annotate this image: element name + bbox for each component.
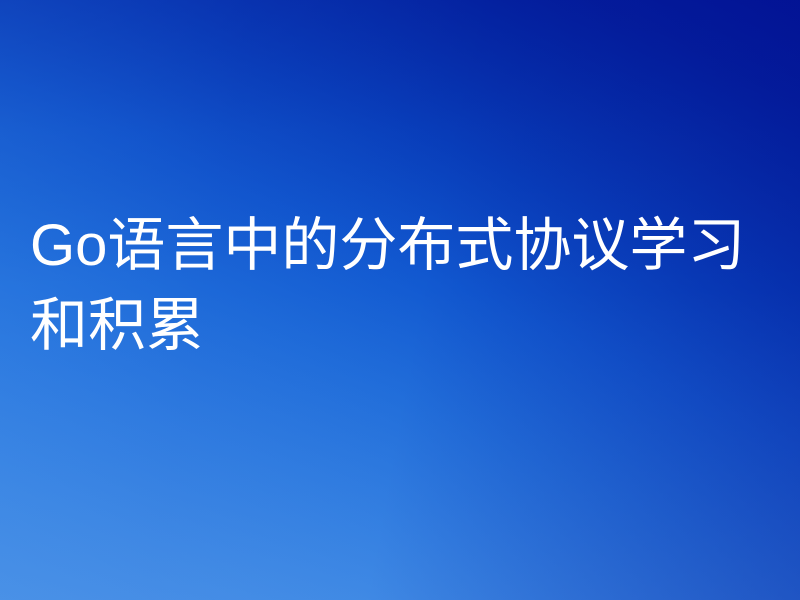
banner-title: Go语言中的分布式协议学习和积累 <box>30 206 790 366</box>
title-block: Go语言中的分布式协议学习和积累 <box>30 206 790 366</box>
title-banner: Go语言中的分布式协议学习和积累 <box>0 0 800 600</box>
